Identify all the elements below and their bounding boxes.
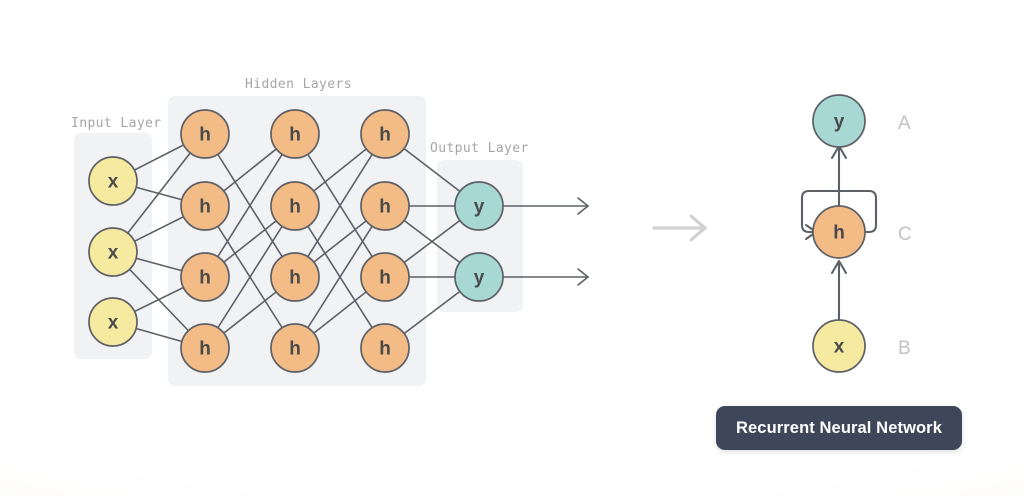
hidden3-node-4-label: h <box>379 339 391 360</box>
hidden1-node-3[interactable]: h <box>181 253 229 301</box>
output-node-2[interactable]: y <box>455 253 503 301</box>
hidden3-node-4[interactable]: h <box>361 324 409 372</box>
output-node-2-label: y <box>474 268 485 289</box>
hidden3-node-1-label: h <box>379 125 391 146</box>
input-node-1-label: x <box>108 172 119 193</box>
input-node-2[interactable]: x <box>89 228 137 276</box>
hidden2-node-1[interactable]: h <box>271 110 319 158</box>
hidden3-node-2-label: h <box>379 197 391 218</box>
hidden2-node-4-label: h <box>289 339 301 360</box>
hidden3-node-1[interactable]: h <box>361 110 409 158</box>
hidden2-node-1-label: h <box>289 125 301 146</box>
input-node-3-label: x <box>108 313 119 334</box>
diagram-title-badge-label: Recurrent Neural Network <box>736 419 942 438</box>
hidden1-node-4[interactable]: h <box>181 324 229 372</box>
input-node-3[interactable]: x <box>89 298 137 346</box>
hidden1-node-4-label: h <box>199 339 211 360</box>
hidden2-node-2-label: h <box>289 197 301 218</box>
output-node-1-label: y <box>474 197 485 218</box>
rnn-output-node[interactable]: y <box>813 95 865 147</box>
rnn-hidden-node-label: h <box>833 223 845 244</box>
rnn-output-node-label: y <box>834 112 845 133</box>
rnn-annotation-a: A <box>898 113 911 134</box>
output-node-1[interactable]: y <box>455 182 503 230</box>
rnn-edge-x-to-h <box>832 261 846 320</box>
hidden3-node-3[interactable]: h <box>361 253 409 301</box>
rnn-input-node[interactable]: x <box>813 320 865 372</box>
rnn-annotation-c: C <box>898 224 912 245</box>
hidden2-node-2[interactable]: h <box>271 182 319 230</box>
arrow-right-icon <box>654 216 705 240</box>
hidden1-node-1[interactable]: h <box>181 110 229 158</box>
hidden2-node-4[interactable]: h <box>271 324 319 372</box>
hidden1-node-1-label: h <box>199 125 211 146</box>
hidden2-node-3-label: h <box>289 268 301 289</box>
rnn-annotation-b: B <box>898 338 911 359</box>
rnn-edge-h-to-y <box>832 146 846 208</box>
hidden1-node-2[interactable]: h <box>181 182 229 230</box>
input-node-1[interactable]: x <box>89 157 137 205</box>
hidden2-node-3[interactable]: h <box>271 253 319 301</box>
hidden-layers-label: Hidden Layers <box>245 77 352 92</box>
input-node-2-label: x <box>108 243 119 264</box>
output-layer-label: Output Layer <box>430 141 529 156</box>
rnn-input-node-label: x <box>834 337 845 358</box>
rnn-hidden-node[interactable]: h <box>813 206 865 258</box>
hidden1-node-2-label: h <box>199 197 211 218</box>
hidden3-node-3-label: h <box>379 268 391 289</box>
diagram-canvas: Input Layer Hidden Layers Output Layer <box>0 0 1024 496</box>
hidden1-node-3-label: h <box>199 268 211 289</box>
diagram-title-badge: Recurrent Neural Network <box>716 406 962 450</box>
input-layer-label: Input Layer <box>71 116 162 131</box>
hidden3-node-2[interactable]: h <box>361 182 409 230</box>
